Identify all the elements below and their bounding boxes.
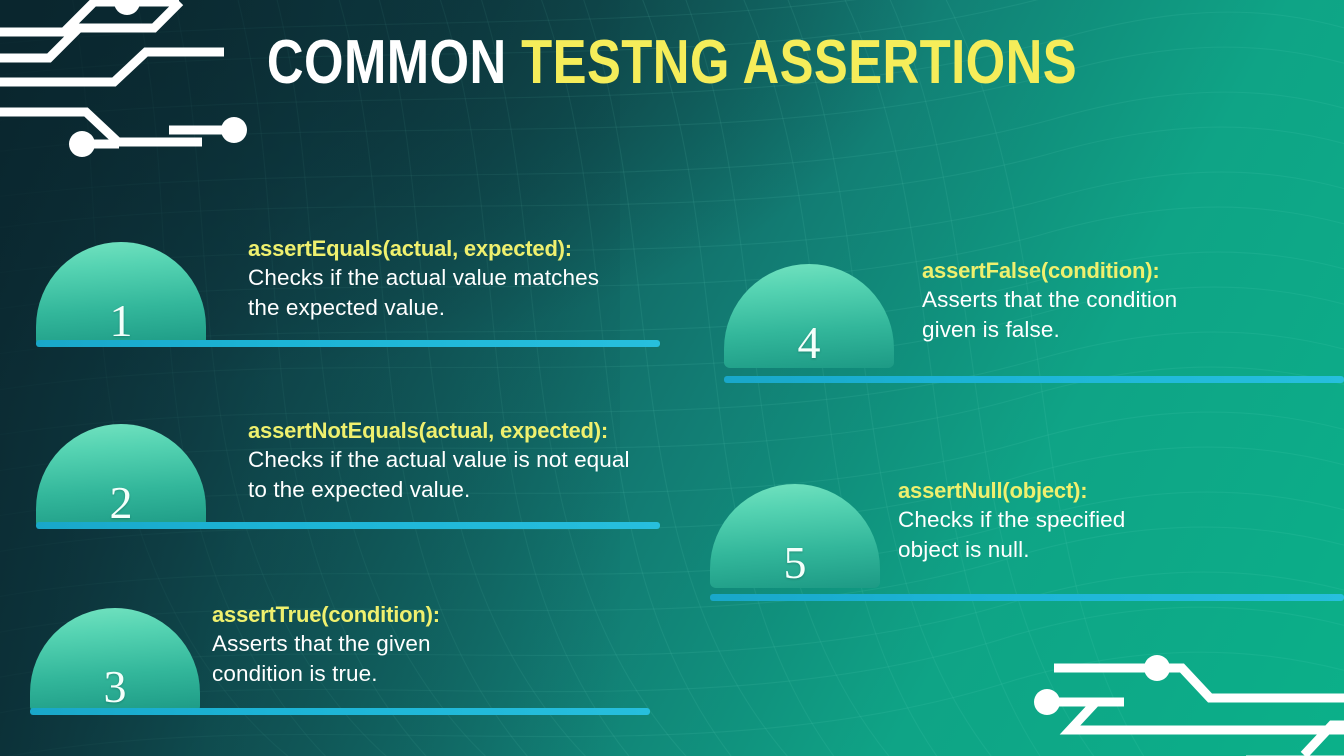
number-badge-5: 5: [710, 484, 880, 588]
assertion-item-2: 2 assertNotEquals(actual, expected): Che…: [36, 418, 696, 536]
assertion-body-line1-5: Checks if the specified: [898, 505, 1125, 535]
assertion-item-4: 4 assertFalse(condition): Asserts that t…: [724, 258, 1344, 376]
page-title: COMMON TESTNG ASSERTIONS: [121, 32, 1223, 94]
assertion-body-line1-1: Checks if the actual value matches: [248, 263, 599, 293]
assertion-heading-3: assertTrue(condition):: [212, 602, 440, 629]
assertion-body-line2-1: the expected value.: [248, 293, 599, 323]
assertion-item-3: 3 assertTrue(condition): Asserts that th…: [30, 602, 690, 720]
assertion-rule-2: [36, 522, 660, 529]
assertion-text-4: assertFalse(condition): Asserts that the…: [922, 258, 1177, 344]
title-part-common: COMMON: [267, 28, 507, 97]
circuit-decoration-bottom-right: [1014, 630, 1344, 756]
number-badge-3: 3: [30, 608, 200, 712]
assertion-heading-4: assertFalse(condition):: [922, 258, 1177, 285]
assertion-text-1: assertEquals(actual, expected): Checks i…: [248, 236, 599, 322]
assertion-rule-5: [710, 594, 1344, 601]
assertion-body-line2-3: condition is true.: [212, 659, 440, 689]
assertion-heading-5: assertNull(object):: [898, 478, 1125, 505]
assertion-rule-4: [724, 376, 1344, 383]
assertion-body-line1-2: Checks if the actual value is not equal: [248, 445, 630, 475]
assertion-text-5: assertNull(object): Checks if the specif…: [898, 478, 1125, 564]
number-label-4: 4: [724, 320, 894, 366]
assertion-text-2: assertNotEquals(actual, expected): Check…: [248, 418, 630, 504]
number-label-1: 1: [36, 298, 206, 344]
assertion-item-1: 1 assertEquals(actual, expected): Checks…: [36, 236, 696, 354]
assertion-text-3: assertTrue(condition): Asserts that the …: [212, 602, 440, 688]
assertion-body-line2-5: object is null.: [898, 535, 1125, 565]
assertion-body-line1-4: Asserts that the condition: [922, 285, 1177, 315]
number-badge-4: 4: [724, 264, 894, 368]
number-label-2: 2: [36, 480, 206, 526]
assertion-item-5: 5 assertNull(object): Checks if the spec…: [710, 478, 1344, 596]
assertion-rule-3: [30, 708, 650, 715]
assertion-body-line1-3: Asserts that the given: [212, 629, 440, 659]
number-badge-2: 2: [36, 424, 206, 528]
title-part-testng-assertions: TESTNG ASSERTIONS: [521, 28, 1077, 97]
assertion-body-line2-2: to the expected value.: [248, 475, 630, 505]
number-label-3: 3: [30, 664, 200, 710]
assertion-rule-1: [36, 340, 660, 347]
number-label-5: 5: [710, 540, 880, 586]
slide-canvas: COMMON TESTNG ASSERTIONS 1 assertEquals(…: [0, 0, 1344, 756]
assertion-body-line2-4: given is false.: [922, 315, 1177, 345]
assertion-heading-2: assertNotEquals(actual, expected):: [248, 418, 630, 445]
assertion-heading-1: assertEquals(actual, expected):: [248, 236, 599, 263]
number-badge-1: 1: [36, 242, 206, 346]
